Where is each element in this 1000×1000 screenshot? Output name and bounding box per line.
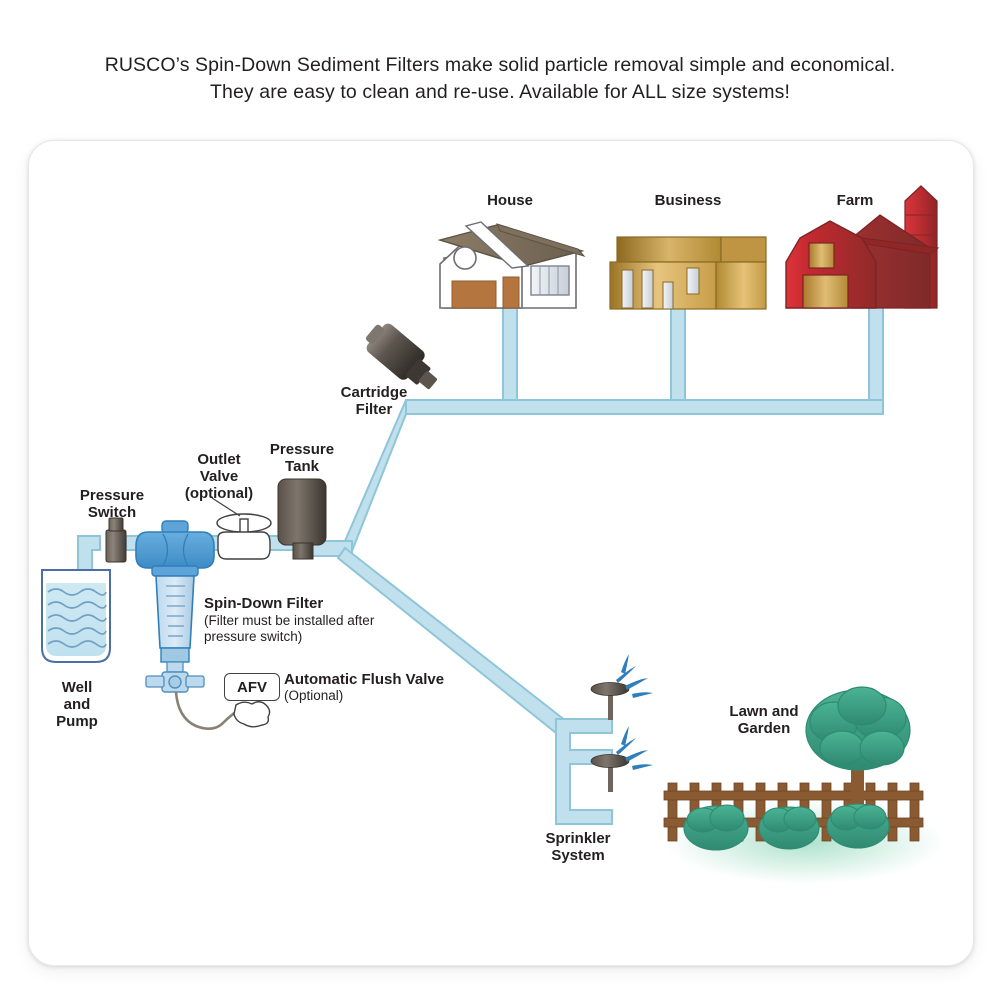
- label-lawn-and-garden: Lawn and Garden: [706, 703, 822, 737]
- label-automatic-flush-valve: Automatic Flush Valve: [284, 671, 514, 688]
- diagram-stage: RUSCO’s Spin-Down Sediment Filters make …: [0, 0, 1000, 1000]
- label-pressure-tank: Pressure Tank: [252, 441, 352, 475]
- page-headline: RUSCO’s Spin-Down Sediment Filters make …: [0, 52, 1000, 106]
- label-spin-down-filter: Spin-Down Filter: [204, 595, 464, 612]
- headline-line-1: RUSCO’s Spin-Down Sediment Filters make …: [105, 54, 896, 76]
- label-business: Business: [618, 192, 758, 209]
- label-house: House: [440, 192, 580, 209]
- label-farm: Farm: [790, 192, 920, 209]
- headline-line-2: They are easy to clean and re-use. Avail…: [0, 79, 1000, 106]
- note-automatic-flush-valve: (Optional): [284, 688, 484, 704]
- label-cartridge-filter: Cartridge Filter: [320, 384, 428, 418]
- label-pressure-switch: Pressure Switch: [62, 487, 162, 521]
- label-well-and-pump: Well and Pump: [34, 679, 120, 730]
- note-spin-down-filter: (Filter must be installed after pressure…: [204, 613, 484, 645]
- afv-badge: AFV: [224, 673, 280, 701]
- diagram-card: [28, 140, 974, 966]
- label-sprinkler-system: Sprinkler System: [520, 830, 636, 864]
